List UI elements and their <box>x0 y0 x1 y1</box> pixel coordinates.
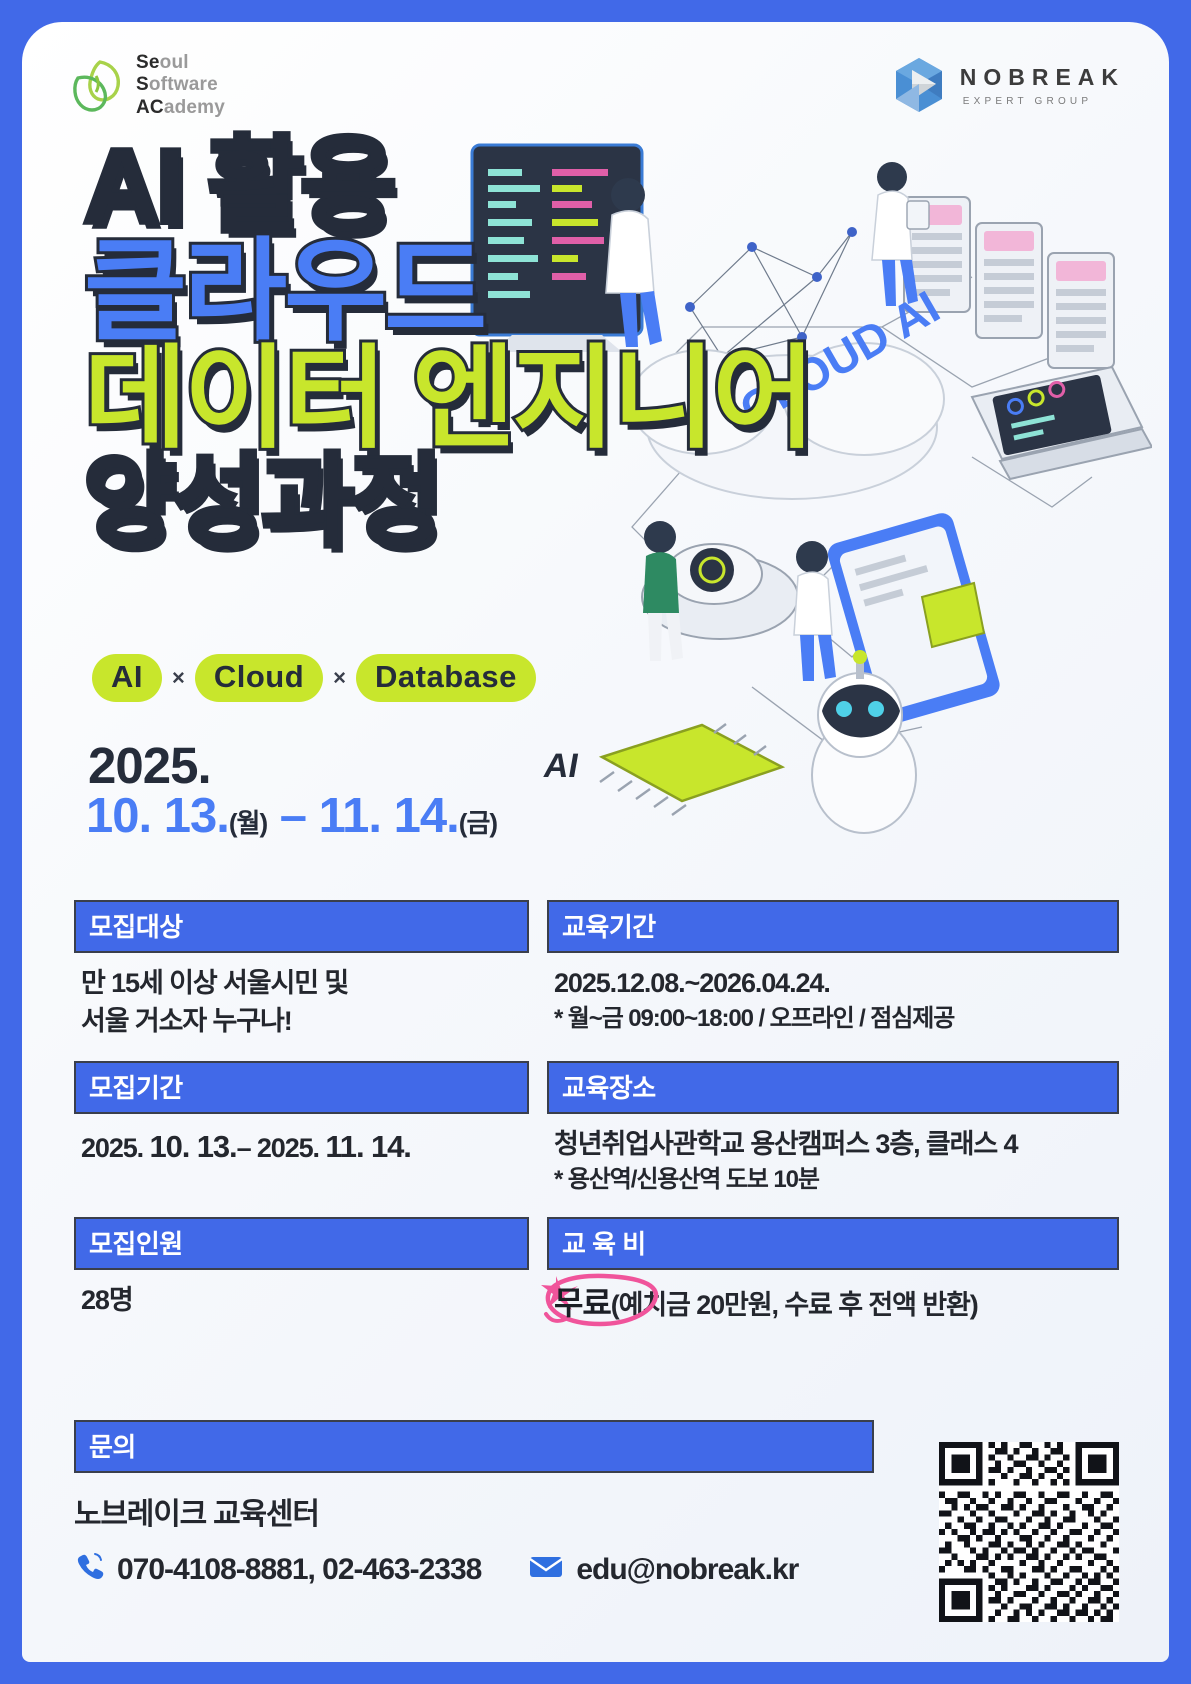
partner-name: NOBREAK <box>960 64 1125 91</box>
period-label: 교육기간 <box>547 900 1119 953</box>
academy-wordmark: Seoul Software ACademy <box>136 52 225 119</box>
topic-badges: AI × Cloud × Database <box>92 654 536 702</box>
contact-phone[interactable]: 070-4108-8881, 02-463-2338 <box>117 1553 481 1587</box>
academy-line1-light: oul <box>160 52 189 73</box>
period-line-2: * 월~금 09:00~18:00 / 오프라인 / 점심제공 <box>554 1002 1114 1036</box>
place-body: 청년취업사관학교 용산캠퍼스 3층, 클래스 4 * 용산역/신용산역 도보 1… <box>547 1114 1119 1197</box>
date-range: 10. 13.(월) – 11. 14.(금) <box>86 788 497 844</box>
academy-line3-bold: AC <box>136 97 164 118</box>
apply-date-2: 11. 14. <box>325 1129 410 1164</box>
target-line-1: 만 15세 이상 서울시민 및 <box>81 964 524 1002</box>
badge-database: Database <box>356 654 536 702</box>
academy-line2-light: oftware <box>149 74 218 95</box>
quota-body: 28명 <box>74 1270 529 1319</box>
info-cell-target: 모집대상 만 15세 이상 서울시민 및 서울 거소자 누구나! <box>74 900 529 1041</box>
date-year: 2025. <box>88 736 211 795</box>
apply-value: 2025. 10. 13.– 2025. 11. 14. <box>81 1125 524 1169</box>
fee-value: 무료 (예치금 20만원, 수료 후 전액 반환) <box>554 1281 1114 1326</box>
place-line-2: * 용산역/신용산역 도보 10분 <box>554 1163 1114 1197</box>
partner-wordmark: NOBREAK EXPERT GROUP <box>960 64 1125 107</box>
place-line-1: 청년취업사관학교 용산캠퍼스 3층, 클래스 4 <box>554 1125 1114 1163</box>
badge-ai: AI <box>92 654 162 702</box>
academy-logo: Seoul Software ACademy <box>70 52 225 119</box>
ai-chip-label: AI <box>541 747 582 785</box>
apply-prefix: 2025. <box>81 1133 149 1163</box>
info-row-2: 모집기간 2025. 10. 13.– 2025. 11. 14. 교육장소 청… <box>74 1061 1119 1197</box>
title-line-4: 양성과정 <box>84 456 844 548</box>
target-body: 만 15세 이상 서울시민 및 서울 거소자 누구나! <box>74 953 529 1041</box>
date-start: 10. 13. <box>86 789 229 843</box>
quota-value: 28명 <box>81 1281 524 1319</box>
info-row-1: 모집대상 만 15세 이상 서울시민 및 서울 거소자 누구나! 교육기간 20… <box>74 900 1119 1041</box>
contact-label: 문의 <box>74 1420 874 1473</box>
badge-cloud: Cloud <box>195 654 323 702</box>
place-label: 교육장소 <box>547 1061 1119 1114</box>
info-grid: 모집대상 만 15세 이상 서울시민 및 서울 거소자 누구나! 교육기간 20… <box>74 900 1119 1347</box>
info-cell-place: 교육장소 청년취업사관학교 용산캠퍼스 3층, 클래스 4 * 용산역/신용산역… <box>547 1061 1119 1197</box>
date-dash: – <box>280 789 306 843</box>
mail-icon <box>529 1553 563 1587</box>
badge-separator-1: × <box>172 665 185 691</box>
academy-line3-light: ademy <box>164 97 225 118</box>
target-line-2: 서울 거소자 누구나! <box>81 1002 524 1040</box>
fee-label: 교 육 비 <box>547 1217 1119 1270</box>
apply-mid: – 2025. <box>237 1133 326 1163</box>
info-row-3: 모집인원 28명 교 육 비 무료 <box>74 1217 1119 1326</box>
academy-line2-bold: S <box>136 74 149 95</box>
period-body: 2025.12.08.~2026.04.24. * 월~금 09:00~18:0… <box>547 953 1119 1036</box>
fee-body: 무료 (예치금 20만원, 수료 후 전액 반환) <box>547 1270 1119 1326</box>
fee-free-wrap: 무료 <box>554 1281 611 1326</box>
leaf-icon <box>70 56 126 116</box>
partner-logo: NOBREAK EXPERT GROUP <box>892 56 1125 114</box>
info-cell-apply: 모집기간 2025. 10. 13.– 2025. 11. 14. <box>74 1061 529 1197</box>
apply-date-1: 10. 13. <box>149 1129 236 1164</box>
date-end-dayofweek: (금) <box>459 808 497 838</box>
contact-details: 070-4108-8881, 02-463-2338 edu@nobreak.k… <box>74 1551 874 1589</box>
title-line-3: 데이터 엔지니어 <box>84 347 844 450</box>
info-cell-quota: 모집인원 28명 <box>74 1217 529 1326</box>
title-line-1: AI 활용 <box>84 140 844 236</box>
badge-separator-2: × <box>333 665 346 691</box>
target-label: 모집대상 <box>74 900 529 953</box>
info-cell-fee: 교 육 비 무료 (예치금 20만원, 수료 후 전액 반환) <box>547 1217 1119 1326</box>
title-line-2: 클라우드 <box>84 240 844 343</box>
contact-org: 노브레이크 교육센터 <box>74 1489 874 1533</box>
info-cell-period: 교육기간 2025.12.08.~2026.04.24. * 월~금 09:00… <box>547 900 1119 1041</box>
academy-line1-bold: Se <box>136 52 160 73</box>
qr-code[interactable] <box>939 1442 1119 1622</box>
hexagon-gem-icon <box>892 56 946 114</box>
partner-tagline: EXPERT GROUP <box>960 96 1125 107</box>
apply-label: 모집기간 <box>74 1061 529 1114</box>
fee-free-text: 무료 <box>554 1285 611 1321</box>
phone-icon <box>74 1551 104 1589</box>
apply-body: 2025. 10. 13.– 2025. 11. 14. <box>74 1114 529 1169</box>
quota-label: 모집인원 <box>74 1217 529 1270</box>
date-start-dayofweek: (월) <box>229 808 267 838</box>
contact-section: 문의 노브레이크 교육센터 070-4108-8881, 02-463-2338… <box>74 1420 874 1589</box>
period-line-1: 2025.12.08.~2026.04.24. <box>554 964 1114 1002</box>
date-end: 11. 14. <box>319 789 459 843</box>
poster-title: AI 활용 클라우드 데이터 엔지니어 양성과정 <box>84 140 844 548</box>
contact-email[interactable]: edu@nobreak.kr <box>576 1553 798 1587</box>
poster-canvas: Seoul Software ACademy NOBREAK EXPERT GR… <box>22 22 1169 1662</box>
